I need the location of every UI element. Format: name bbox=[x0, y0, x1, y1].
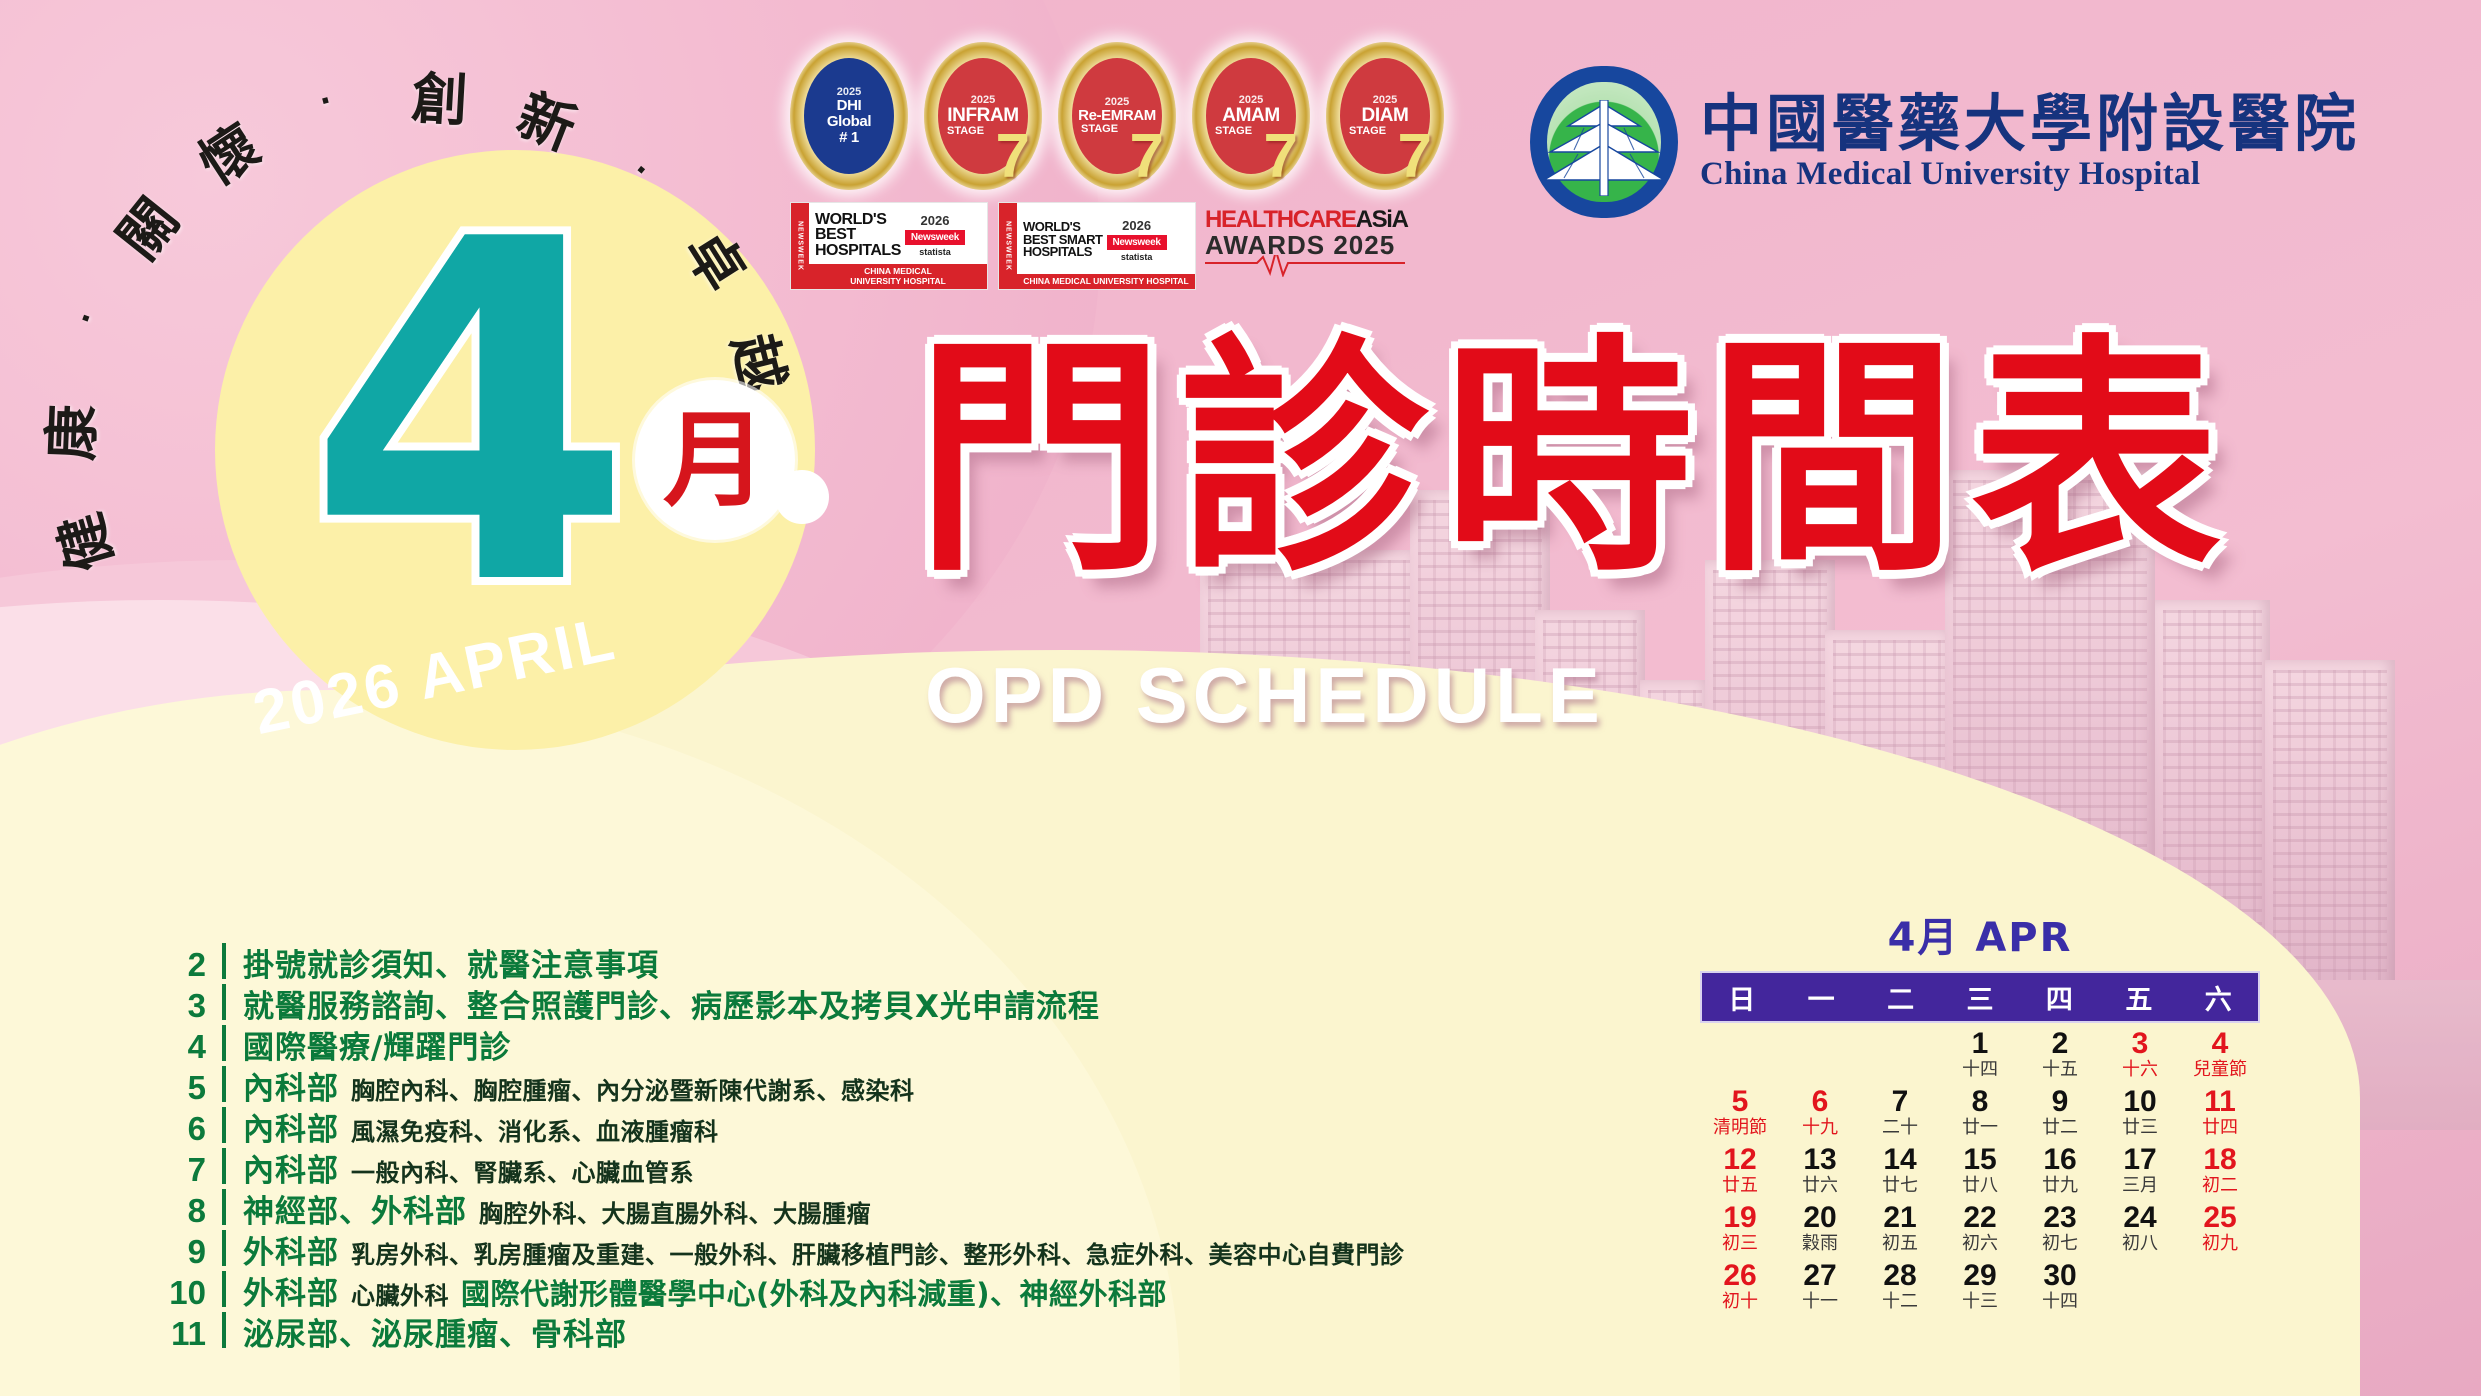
index-row[interactable]: 2掛號就診須知、就醫注意事項 bbox=[150, 940, 1630, 981]
calendar-lunar-label: 清明節 bbox=[1700, 1118, 1780, 1139]
calendar-lunar-label: 廿五 bbox=[1700, 1176, 1780, 1197]
calendar-day-number: 3 bbox=[2100, 1029, 2180, 1060]
calendar-day-number: 10 bbox=[2100, 1087, 2180, 1118]
index-page-number: 5 bbox=[150, 1069, 222, 1107]
calendar-day-cell[interactable]: 30十四 bbox=[2020, 1261, 2100, 1319]
calendar-lunar-label: 廿一 bbox=[1940, 1118, 2020, 1139]
index-text: 內科部胸腔內科、胸腔腫瘤、內分泌暨新陳代謝系、感染科 bbox=[226, 1063, 915, 1108]
calendar-day-cell[interactable]: 7二十 bbox=[1860, 1087, 1940, 1145]
calendar-weekday: 四 bbox=[2020, 978, 2099, 1017]
calendar-day-number: 17 bbox=[2100, 1145, 2180, 1176]
calendar-day-cell[interactable]: 15廿八 bbox=[1940, 1145, 2020, 1203]
calendar-weekday: 五 bbox=[2099, 978, 2178, 1017]
award-seal-dhi-global: 2025DHIGlobal# 1 bbox=[790, 42, 908, 190]
slogan-char: 關 bbox=[96, 180, 194, 274]
calendar-day-number: 21 bbox=[1860, 1203, 1940, 1234]
newsweek-badge-1: NEWSWEEKWORLD'SBESTHOSPITALS2026Newsweek… bbox=[790, 202, 988, 290]
calendar-lunar-label: 穀雨 bbox=[1780, 1234, 1860, 1255]
calendar-day-number: 27 bbox=[1780, 1261, 1860, 1292]
calendar-lunar-label: 十四 bbox=[2020, 1292, 2100, 1313]
newsweek-footer: CHINA MEDICALUNIVERSITY HOSPITAL bbox=[809, 264, 987, 289]
index-text: 神經部、外科部胸腔外科、大腸直腸外科、大腸腫瘤 bbox=[226, 1186, 871, 1231]
calendar-day-cell[interactable]: 3十六 bbox=[2100, 1029, 2180, 1087]
calendar-day-number: 2 bbox=[2020, 1029, 2100, 1060]
calendar-lunar-label: 初六 bbox=[1940, 1234, 2020, 1255]
calendar-weekday: 六 bbox=[2179, 978, 2258, 1017]
index-row[interactable]: 5內科部胸腔內科、胸腔腫瘤、內分泌暨新陳代謝系、感染科 bbox=[150, 1063, 1630, 1104]
slogan-dot: · bbox=[68, 307, 105, 330]
calendar-day-number: 13 bbox=[1780, 1145, 1860, 1176]
calendar-lunar-label: 十三 bbox=[1940, 1292, 2020, 1313]
index-department: 泌尿部、泌尿腫瘤、骨科部 bbox=[243, 1317, 627, 1353]
slogan-dot: · bbox=[316, 83, 336, 120]
calendar-weekday-header: 日一二三四五六 bbox=[1700, 971, 2260, 1023]
month-char: 月 bbox=[635, 380, 795, 540]
calendar-day-number: 6 bbox=[1780, 1087, 1860, 1118]
index-department: 神經部、外科部 bbox=[243, 1194, 467, 1230]
index-row[interactable]: 10外科部心臟外科國際代謝形體醫學中心(外科及內科減重)、神經外科部 bbox=[150, 1268, 1630, 1309]
calendar-day-cell[interactable]: 12廿五 bbox=[1700, 1145, 1780, 1203]
index-page-number: 10 bbox=[150, 1274, 222, 1312]
calendar-lunar-label: 廿三 bbox=[2100, 1118, 2180, 1139]
calendar-lunar-label: 初八 bbox=[2100, 1234, 2180, 1255]
newsweek-footer: CHINA MEDICAL UNIVERSITY HOSPITAL bbox=[1017, 274, 1195, 289]
index-department: 國際醫療/輝躍門診 bbox=[243, 1030, 511, 1066]
index-row[interactable]: 8神經部、外科部胸腔外科、大腸直腸外科、大腸腫瘤 bbox=[150, 1186, 1630, 1227]
calendar-lunar-label: 三月 bbox=[2100, 1176, 2180, 1197]
index-subjects-highlight: 國際代謝形體醫學中心(外科及內科減重)、神經外科部 bbox=[461, 1277, 1167, 1311]
award-badges: 2025DHIGlobal# 12025INFRAMSTAGE72025Re-E… bbox=[790, 42, 1490, 302]
calendar-lunar-label: 初九 bbox=[2180, 1234, 2260, 1255]
calendar-weekday: 日 bbox=[1702, 978, 1781, 1017]
index-text: 內科部風濕免疫科、消化系、血液腫瘤科 bbox=[226, 1104, 719, 1149]
calendar-lunar-label: 初十 bbox=[1700, 1292, 1780, 1313]
calendar-day-number: 4 bbox=[2180, 1029, 2260, 1060]
calendar-lunar-label: 廿七 bbox=[1860, 1176, 1940, 1197]
calendar-weekday: 一 bbox=[1781, 978, 1860, 1017]
index-department: 內科部 bbox=[243, 1071, 339, 1107]
calendar-day-cell[interactable]: 22初六 bbox=[1940, 1203, 2020, 1261]
calendar-lunar-label: 十五 bbox=[2020, 1060, 2100, 1081]
slogan-char: 康 bbox=[27, 403, 110, 462]
calendar-lunar-label: 廿六 bbox=[1780, 1176, 1860, 1197]
calendar-day-cell[interactable]: 2十五 bbox=[2020, 1029, 2100, 1087]
calendar-lunar-label: 十二 bbox=[1860, 1292, 1940, 1313]
award-seal-amam: 2025AMAMSTAGE7 bbox=[1192, 42, 1310, 190]
calendar-day-cell[interactable]: 23初七 bbox=[2020, 1203, 2100, 1261]
calendar-lunar-label: 廿四 bbox=[2180, 1118, 2260, 1139]
calendar-day-number: 1 bbox=[1940, 1029, 2020, 1060]
index-page-number: 8 bbox=[150, 1192, 222, 1230]
calendar-day-cell[interactable]: 27十一 bbox=[1780, 1261, 1860, 1319]
calendar-lunar-label: 十一 bbox=[1780, 1292, 1860, 1313]
index-page-number: 6 bbox=[150, 1110, 222, 1148]
page-title-en: OPD SCHEDULE bbox=[925, 650, 1605, 741]
calendar-day-cell[interactable]: 1十四 bbox=[1940, 1029, 2020, 1087]
calendar-day-grid: 1十四2十五3十六4兒童節5清明節6十九7二十8廿一9廿二10廿三11廿四12廿… bbox=[1700, 1029, 2260, 1319]
index-page-number: 2 bbox=[150, 946, 222, 984]
calendar-day-cell[interactable]: 19初三 bbox=[1700, 1203, 1780, 1261]
calendar-day-cell[interactable]: 11廿四 bbox=[2180, 1087, 2260, 1145]
calendar-day-cell[interactable]: 17三月 bbox=[2100, 1145, 2180, 1203]
calendar-day-number: 18 bbox=[2180, 1145, 2260, 1176]
index-subjects: 心臟外科 bbox=[351, 1282, 449, 1310]
calendar-day-cell[interactable]: 5清明節 bbox=[1700, 1087, 1780, 1145]
index-row[interactable]: 9外科部乳房外科、乳房腫瘤及重建、一般外科、肝臟移植門診、整形外科、急症外科、美… bbox=[150, 1227, 1630, 1268]
award-seal-diam: 2025DIAMSTAGE7 bbox=[1326, 42, 1444, 190]
calendar-day-cell[interactable]: 20穀雨 bbox=[1780, 1203, 1860, 1261]
index-text: 內科部一般內科、腎臟系、心臟血管系 bbox=[226, 1145, 694, 1190]
calendar-day-number: 24 bbox=[2100, 1203, 2180, 1234]
calendar-day-number: 30 bbox=[2020, 1261, 2100, 1292]
calendar-lunar-label: 廿九 bbox=[2020, 1176, 2100, 1197]
calendar-day-cell[interactable]: 16廿九 bbox=[2020, 1145, 2100, 1203]
calendar-title: 4月 APR bbox=[1700, 905, 2260, 963]
index-department: 外科部 bbox=[243, 1276, 339, 1312]
award-seal-infram: 2025INFRAMSTAGE7 bbox=[924, 42, 1042, 190]
hospital-logo: 中國醫藥大學附設醫院 China Medical University Hosp… bbox=[1530, 62, 2470, 222]
index-page-number: 11 bbox=[150, 1315, 222, 1353]
index-row[interactable]: 11泌尿部、泌尿腫瘤、骨科部 bbox=[150, 1309, 1630, 1350]
calendar-day-cell[interactable]: 25初九 bbox=[2180, 1203, 2260, 1261]
calendar-day-cell[interactable]: 9廿二 bbox=[2020, 1087, 2100, 1145]
index-department: 內科部 bbox=[243, 1153, 339, 1189]
calendar-day-number: 15 bbox=[1940, 1145, 2020, 1176]
newsweek-spine: NEWSWEEK bbox=[791, 203, 809, 289]
index-subjects: 一般內科、腎臟系、心臟血管系 bbox=[351, 1159, 694, 1187]
calendar-lunar-label: 初五 bbox=[1860, 1234, 1940, 1255]
index-row[interactable]: 3就醫服務諮詢、整合照護門診、病歷影本及拷貝X光申請流程 bbox=[150, 981, 1630, 1022]
index-department: 內科部 bbox=[243, 1112, 339, 1148]
calendar-day-cell[interactable]: 6十九 bbox=[1780, 1087, 1860, 1145]
calendar-day-cell[interactable]: 21初五 bbox=[1860, 1203, 1940, 1261]
index-page-number: 7 bbox=[150, 1151, 222, 1189]
calendar-day-number: 16 bbox=[2020, 1145, 2100, 1176]
index-page-number: 9 bbox=[150, 1233, 222, 1271]
calendar-lunar-label: 初七 bbox=[2020, 1234, 2100, 1255]
index-subjects: 乳房外科、乳房腫瘤及重建、一般外科、肝臟移植門診、整形外科、急症外科、美容中心自… bbox=[351, 1241, 1405, 1269]
calendar-day-cell[interactable]: 28十二 bbox=[1860, 1261, 1940, 1319]
calendar-day-cell[interactable]: 13廿六 bbox=[1780, 1145, 1860, 1203]
calendar-lunar-label: 初二 bbox=[2180, 1176, 2260, 1197]
hospital-name-zh: 中國醫藥大學附設醫院 bbox=[1700, 91, 2360, 156]
index-row[interactable]: 6內科部風濕免疫科、消化系、血液腫瘤科 bbox=[150, 1104, 1630, 1145]
calendar-day-cell[interactable]: 8廿一 bbox=[1940, 1087, 2020, 1145]
calendar-day-cell[interactable]: 29十三 bbox=[1940, 1261, 2020, 1319]
opd-schedule-poster: 健康·關懷·創新·卓越 4 4 月 2026 APRIL 2025DHIGlob… bbox=[0, 0, 2481, 1396]
calendar-day-cell[interactable]: 18初二 bbox=[2180, 1145, 2260, 1203]
calendar-day-number: 12 bbox=[1700, 1145, 1780, 1176]
calendar-day-number: 26 bbox=[1700, 1261, 1780, 1292]
calendar-day-number: 14 bbox=[1860, 1145, 1940, 1176]
slogan-char: 創 bbox=[409, 53, 469, 137]
calendar-day-number: 9 bbox=[2020, 1087, 2100, 1118]
calendar-day-number: 5 bbox=[1700, 1087, 1780, 1118]
calendar-day-number: 20 bbox=[1780, 1203, 1860, 1234]
calendar-lunar-label: 初三 bbox=[1700, 1234, 1780, 1255]
calendar-day-number: 28 bbox=[1860, 1261, 1940, 1292]
healthcare-asia-awards-badge: HEALTHCAREASiAAWARDS 2025 bbox=[1205, 208, 1405, 275]
hospital-emblem-icon bbox=[1530, 66, 1678, 218]
index-page-number: 3 bbox=[150, 987, 222, 1025]
calendar-day-number: 23 bbox=[2020, 1203, 2100, 1234]
index-page-number: 4 bbox=[150, 1028, 222, 1066]
index-row[interactable]: 7內科部一般內科、腎臟系、心臟血管系 bbox=[150, 1145, 1630, 1186]
newsweek-spine: NEWSWEEK bbox=[999, 203, 1017, 289]
pagoda-icon bbox=[1544, 100, 1664, 201]
calendar-day-number: 22 bbox=[1940, 1203, 2020, 1234]
index-department: 外科部 bbox=[243, 1235, 339, 1271]
index-subjects: 風濕免疫科、消化系、血液腫瘤科 bbox=[351, 1118, 719, 1146]
calendar-day-number: 8 bbox=[1940, 1087, 2020, 1118]
index-subjects: 胸腔外科、大腸直腸外科、大腸腫瘤 bbox=[479, 1200, 871, 1228]
calendar-day-cell[interactable]: 26初十 bbox=[1700, 1261, 1780, 1319]
calendar-weekday: 二 bbox=[1861, 978, 1940, 1017]
index-text: 國際醫療/輝躍門診 bbox=[226, 1022, 511, 1067]
calendar-day-cell[interactable]: 10廿三 bbox=[2100, 1087, 2180, 1145]
calendar-lunar-label: 兒童節 bbox=[2180, 1060, 2260, 1081]
calendar-lunar-label: 十九 bbox=[1780, 1118, 1860, 1139]
month-calendar: 4月 APR 日一二三四五六 1十四2十五3十六4兒童節5清明節6十九7二十8廿… bbox=[1700, 905, 2260, 1319]
calendar-day-cell[interactable]: 4兒童節 bbox=[2180, 1029, 2260, 1087]
calendar-day-cell[interactable]: 24初八 bbox=[2100, 1203, 2180, 1261]
index-subjects: 胸腔內科、胸腔腫瘤、內分泌暨新陳代謝系、感染科 bbox=[351, 1077, 915, 1105]
calendar-day-number: 25 bbox=[2180, 1203, 2260, 1234]
calendar-lunar-label: 廿八 bbox=[1940, 1176, 2020, 1197]
index-text: 就醫服務諮詢、整合照護門診、病歷影本及拷貝X光申請流程 bbox=[226, 981, 1100, 1026]
calendar-day-number: 29 bbox=[1940, 1261, 2020, 1292]
calendar-lunar-label: 十四 bbox=[1940, 1060, 2020, 1081]
calendar-lunar-label: 廿二 bbox=[2020, 1118, 2100, 1139]
index-text: 掛號就診須知、就醫注意事項 bbox=[226, 940, 659, 985]
calendar-lunar-label: 十六 bbox=[2100, 1060, 2180, 1081]
calendar-day-number: 7 bbox=[1860, 1087, 1940, 1118]
page-title-zh: 門診時間表 bbox=[915, 330, 2235, 590]
index-row[interactable]: 4國際醫療/輝躍門診 bbox=[150, 1022, 1630, 1063]
calendar-weekday: 三 bbox=[1940, 978, 2019, 1017]
calendar-day-cell[interactable]: 14廿七 bbox=[1860, 1145, 1940, 1203]
award-seal-re-emram: 2025Re-EMRAMSTAGE7 bbox=[1058, 42, 1176, 190]
calendar-lunar-label: 二十 bbox=[1860, 1118, 1940, 1139]
index-department: 掛號就診須知、就醫注意事項 bbox=[243, 948, 659, 984]
index-department: 就醫服務諮詢、整合照護門診、病歷影本及拷貝X光申請流程 bbox=[243, 989, 1100, 1025]
index-text: 外科部心臟外科國際代謝形體醫學中心(外科及內科減重)、神經外科部 bbox=[226, 1268, 1167, 1313]
calendar-day-number: 19 bbox=[1700, 1203, 1780, 1234]
newsweek-badge-2: NEWSWEEKWORLD'SBEST SMARTHOSPITALS2026Ne… bbox=[998, 202, 1196, 290]
index-text: 外科部乳房外科、乳房腫瘤及重建、一般外科、肝臟移植門診、整形外科、急症外科、美容… bbox=[226, 1227, 1405, 1272]
hospital-name-en: China Medical University Hospital bbox=[1700, 156, 2360, 192]
calendar-day-number: 11 bbox=[2180, 1087, 2260, 1118]
index-text: 泌尿部、泌尿腫瘤、骨科部 bbox=[226, 1309, 627, 1354]
contents-index: 2掛號就診須知、就醫注意事項3就醫服務諮詢、整合照護門診、病歷影本及拷貝X光申請… bbox=[150, 940, 1630, 1350]
